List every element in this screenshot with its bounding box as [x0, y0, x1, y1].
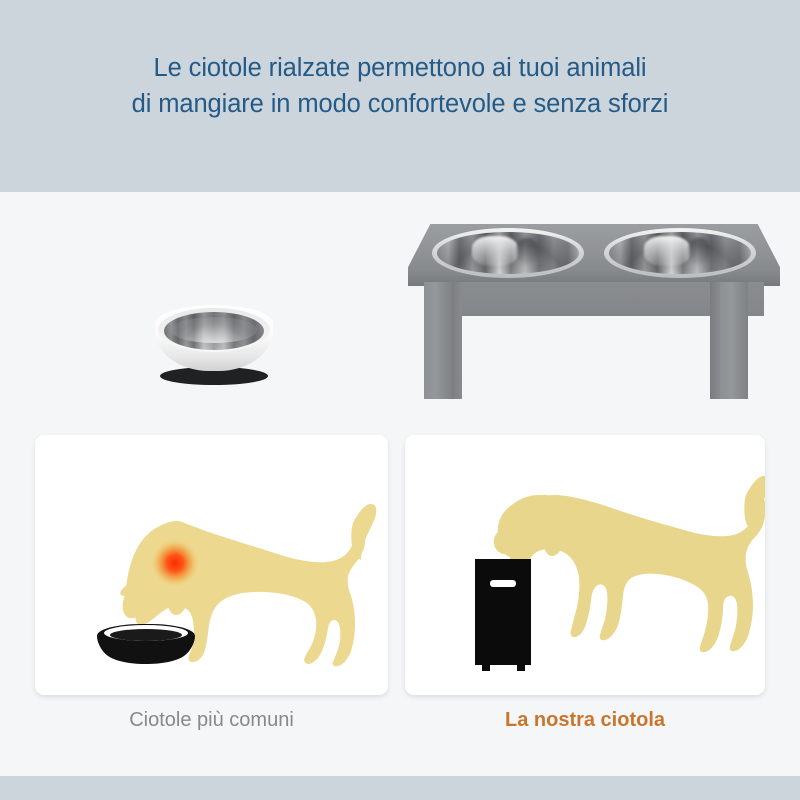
- stand-leg-left-inner: [452, 282, 462, 399]
- dog-silhouette: [494, 476, 765, 652]
- footer-band: [0, 776, 800, 800]
- stand-leg-right: [720, 282, 748, 399]
- steel-bowl-reflection: [516, 238, 538, 264]
- bowl-outer-body: [155, 305, 273, 371]
- caption-common-bowls: Ciotole più comuni: [35, 707, 388, 733]
- comparison-section: Ciotole più comuni La nostra ciotola: [0, 425, 800, 776]
- stand-leg-right-inner: [710, 282, 720, 399]
- pain-marker-icon: [151, 539, 199, 587]
- stand-steel-bowl-right: [604, 228, 756, 278]
- comparison-card-common-bowls: [35, 435, 388, 695]
- feeder-handle-slot: [490, 580, 516, 587]
- bowl-interior-highlight: [171, 317, 257, 343]
- dog-straining-illustration: [35, 435, 388, 695]
- floor-bowl-icon: [97, 624, 195, 664]
- elevated-feeder-icon: [475, 559, 531, 671]
- stand-steel-bowl-left: [432, 228, 584, 278]
- hero-product-row: [0, 192, 800, 425]
- page-headline: Le ciotole rialzate permettono ai tuoi a…: [0, 50, 800, 122]
- comparison-card-our-bowl: [405, 435, 765, 695]
- stand-leg-left: [424, 282, 452, 399]
- single-ceramic-bowl-image: [155, 297, 273, 385]
- steel-bowl-highlight: [472, 236, 518, 266]
- caption-our-bowl: La nostra ciotola: [405, 707, 765, 733]
- steel-bowl-reflection: [688, 238, 710, 264]
- elevated-feeder-stand-image: [408, 224, 780, 399]
- infographic-page: Le ciotole rialzate permettono ai tuoi a…: [0, 0, 800, 800]
- dog-upright-illustration: [405, 435, 765, 695]
- header-band: Le ciotole rialzate permettono ai tuoi a…: [0, 0, 800, 192]
- steel-bowl-highlight: [644, 236, 690, 266]
